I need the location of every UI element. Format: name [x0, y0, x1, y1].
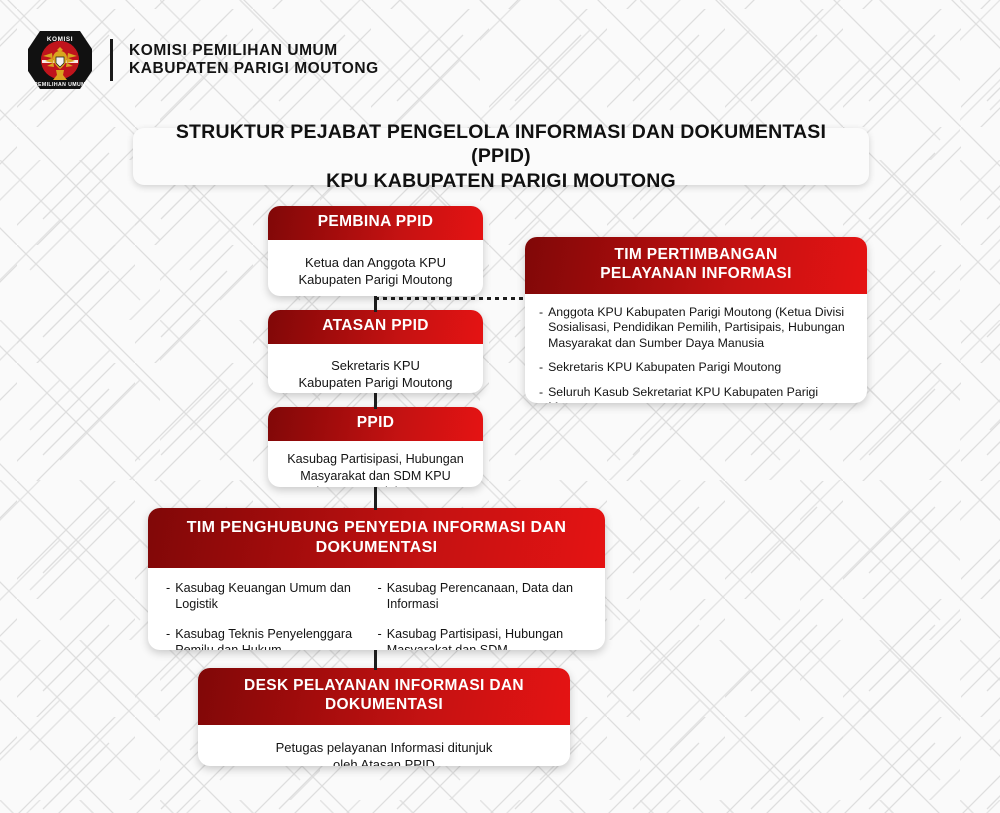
bullet-marker: -: [378, 627, 382, 650]
list-item: - Kasubag Perencanaan, Data dan Informas…: [378, 581, 590, 613]
page-title-banner: STRUKTUR PEJABAT PENGELOLA INFORMASI DAN…: [133, 128, 869, 185]
desk-body-line-2: oleh Atasan PPID: [212, 756, 556, 766]
card-ppid: PPID Kasubag Partisipasi, Hubungan Masya…: [268, 407, 483, 487]
brand-header: KOMISI PEMILIHAN UMUM KOMISI PEMILIHAN U…: [26, 29, 379, 91]
bullet-text: Kasubag Keuangan Umum dan Logistik: [175, 581, 377, 613]
infographic-root: KOMISI PEMILIHAN UMUM KOMISI PEMILIHAN U…: [0, 0, 1000, 813]
logo-bottom-text: PEMILIHAN UMUM: [34, 82, 86, 88]
pembina-body-line-2: Kabupaten Parigi Moutong: [282, 271, 469, 288]
bullet-marker: -: [166, 581, 170, 613]
desk-header-line-2: DOKUMENTASI: [210, 696, 558, 715]
bullet-marker: -: [539, 385, 543, 403]
tim-pertimbangan-bullet-list: - Anggota KPU Kabupaten Parigi Moutong (…: [539, 305, 854, 403]
card-desk-body: Petugas pelayanan Informasi ditunjuk ole…: [198, 725, 570, 766]
list-item: - Kasubag Teknis Penyelenggara Pemilu da…: [166, 627, 378, 650]
tim-penghubung-header-line-1: TIM PENGHUBUNG PENYEDIA INFORMASI DAN: [164, 518, 589, 538]
kpu-garuda-logo-icon: KOMISI PEMILIHAN UMUM: [26, 29, 94, 91]
bullet-text: Kasubag Partisipasi, Hubungan Masyarakat…: [387, 627, 589, 650]
list-item: - Seluruh Kasub Sekretariat KPU Kabupate…: [539, 385, 854, 403]
tim-penghubung-columns: - Kasubag Keuangan Umum dan Logistik - K…: [166, 581, 589, 650]
brand-divider: [110, 39, 113, 81]
bullet-text: Kasubag Perencanaan, Data dan Informasi: [387, 581, 589, 613]
tim-penghubung-right-list: - Kasubag Perencanaan, Data dan Informas…: [378, 581, 590, 650]
tim-penghubung-left-list: - Kasubag Keuangan Umum dan Logistik - K…: [166, 581, 378, 650]
tim-penghubung-header-line-2: DOKUMENTASI: [164, 538, 589, 558]
bullet-text: Seluruh Kasub Sekretariat KPU Kabupaten …: [548, 385, 854, 403]
connector-ppid-to-tim-penghubung: [374, 487, 377, 510]
ppid-body-line-2: Masyarakat dan SDM KPU: [276, 468, 475, 485]
logo-top-text: KOMISI: [47, 36, 73, 43]
card-atasan-ppid-header: ATASAN PPID: [268, 310, 483, 344]
card-desk-header: DESK PELAYANAN INFORMASI DAN DOKUMENTASI: [198, 668, 570, 725]
bullet-text: Sekretaris KPU Kabupaten Parigi Moutong: [548, 360, 781, 375]
page-title-line-1: STRUKTUR PEJABAT PENGELOLA INFORMASI DAN…: [147, 120, 855, 168]
brand-title: KOMISI PEMILIHAN UMUM KABUPATEN PARIGI M…: [129, 42, 379, 79]
tim-penghubung-column-left: - Kasubag Keuangan Umum dan Logistik - K…: [166, 581, 378, 650]
atasan-body-line-2: Kabupaten Parigi Moutong: [282, 374, 469, 391]
desk-header-line-1: DESK PELAYANAN INFORMASI DAN: [210, 677, 558, 696]
pembina-body-line-1: Ketua dan Anggota KPU: [282, 254, 469, 271]
card-ppid-body: Kasubag Partisipasi, Hubungan Masyarakat…: [268, 441, 483, 487]
page-title-line-2: KPU KABUPATEN PARIGI MOUTONG: [147, 169, 855, 193]
card-tim-pertimbangan-header: TIM PERTIMBANGAN PELAYANAN INFORMASI: [525, 237, 867, 294]
card-tim-penghubung-penyedia-informasi-dan-dokumentasi: TIM PENGHUBUNG PENYEDIA INFORMASI DAN DO…: [148, 508, 605, 650]
bullet-marker: -: [539, 360, 543, 375]
card-tim-penghubung-body: - Kasubag Keuangan Umum dan Logistik - K…: [148, 568, 605, 650]
list-item: - Anggota KPU Kabupaten Parigi Moutong (…: [539, 305, 854, 351]
atasan-body-line-1: Sekretaris KPU: [282, 357, 469, 374]
brand-line-2: KABUPATEN PARIGI MOUTONG: [129, 60, 379, 78]
list-item: - Kasubag Partisipasi, Hubungan Masyarak…: [378, 627, 590, 650]
card-tim-pertimbangan-pelayanan-informasi: TIM PERTIMBANGAN PELAYANAN INFORMASI - A…: [525, 237, 867, 403]
tim-pertimbangan-header-line-1: TIM PERTIMBANGAN: [535, 246, 857, 265]
connector-atasan-to-ppid: [374, 393, 377, 409]
bullet-marker: -: [539, 305, 543, 351]
tim-penghubung-column-right: - Kasubag Perencanaan, Data dan Informas…: [378, 581, 590, 650]
card-pembina-ppid-header: PEMBINA PPID: [268, 206, 483, 240]
bullet-text: Anggota KPU Kabupaten Parigi Moutong (Ke…: [548, 305, 854, 351]
tim-pertimbangan-header-line-2: PELAYANAN INFORMASI: [535, 265, 857, 284]
brand-line-1: KOMISI PEMILIHAN UMUM: [129, 42, 379, 60]
card-ppid-header: PPID: [268, 407, 483, 441]
list-item: - Kasubag Keuangan Umum dan Logistik: [166, 581, 378, 613]
bullet-marker: -: [378, 581, 382, 613]
card-tim-pertimbangan-body: - Anggota KPU Kabupaten Parigi Moutong (…: [525, 294, 867, 403]
card-pembina-ppid: PEMBINA PPID Ketua dan Anggota KPU Kabup…: [268, 206, 483, 296]
connector-pembina-to-tim-pertimbangan: [375, 297, 527, 300]
card-atasan-ppid-body: Sekretaris KPU Kabupaten Parigi Moutong: [268, 344, 483, 393]
bullet-marker: -: [166, 627, 170, 650]
desk-body-line-1: Petugas pelayanan Informasi ditunjuk: [212, 739, 556, 756]
card-atasan-ppid: ATASAN PPID Sekretaris KPU Kabupaten Par…: [268, 310, 483, 393]
card-pembina-ppid-body: Ketua dan Anggota KPU Kabupaten Parigi M…: [268, 240, 483, 296]
card-tim-penghubung-header: TIM PENGHUBUNG PENYEDIA INFORMASI DAN DO…: [148, 508, 605, 568]
ppid-body-line-1: Kasubag Partisipasi, Hubungan: [276, 451, 475, 468]
bullet-text: Kasubag Teknis Penyelenggara Pemilu dan …: [175, 627, 377, 650]
connector-tim-penghubung-to-desk: [374, 650, 377, 670]
list-item: - Sekretaris KPU Kabupaten Parigi Mouton…: [539, 360, 854, 375]
card-desk-pelayanan-informasi-dan-dokumentasi: DESK PELAYANAN INFORMASI DAN DOKUMENTASI…: [198, 668, 570, 766]
